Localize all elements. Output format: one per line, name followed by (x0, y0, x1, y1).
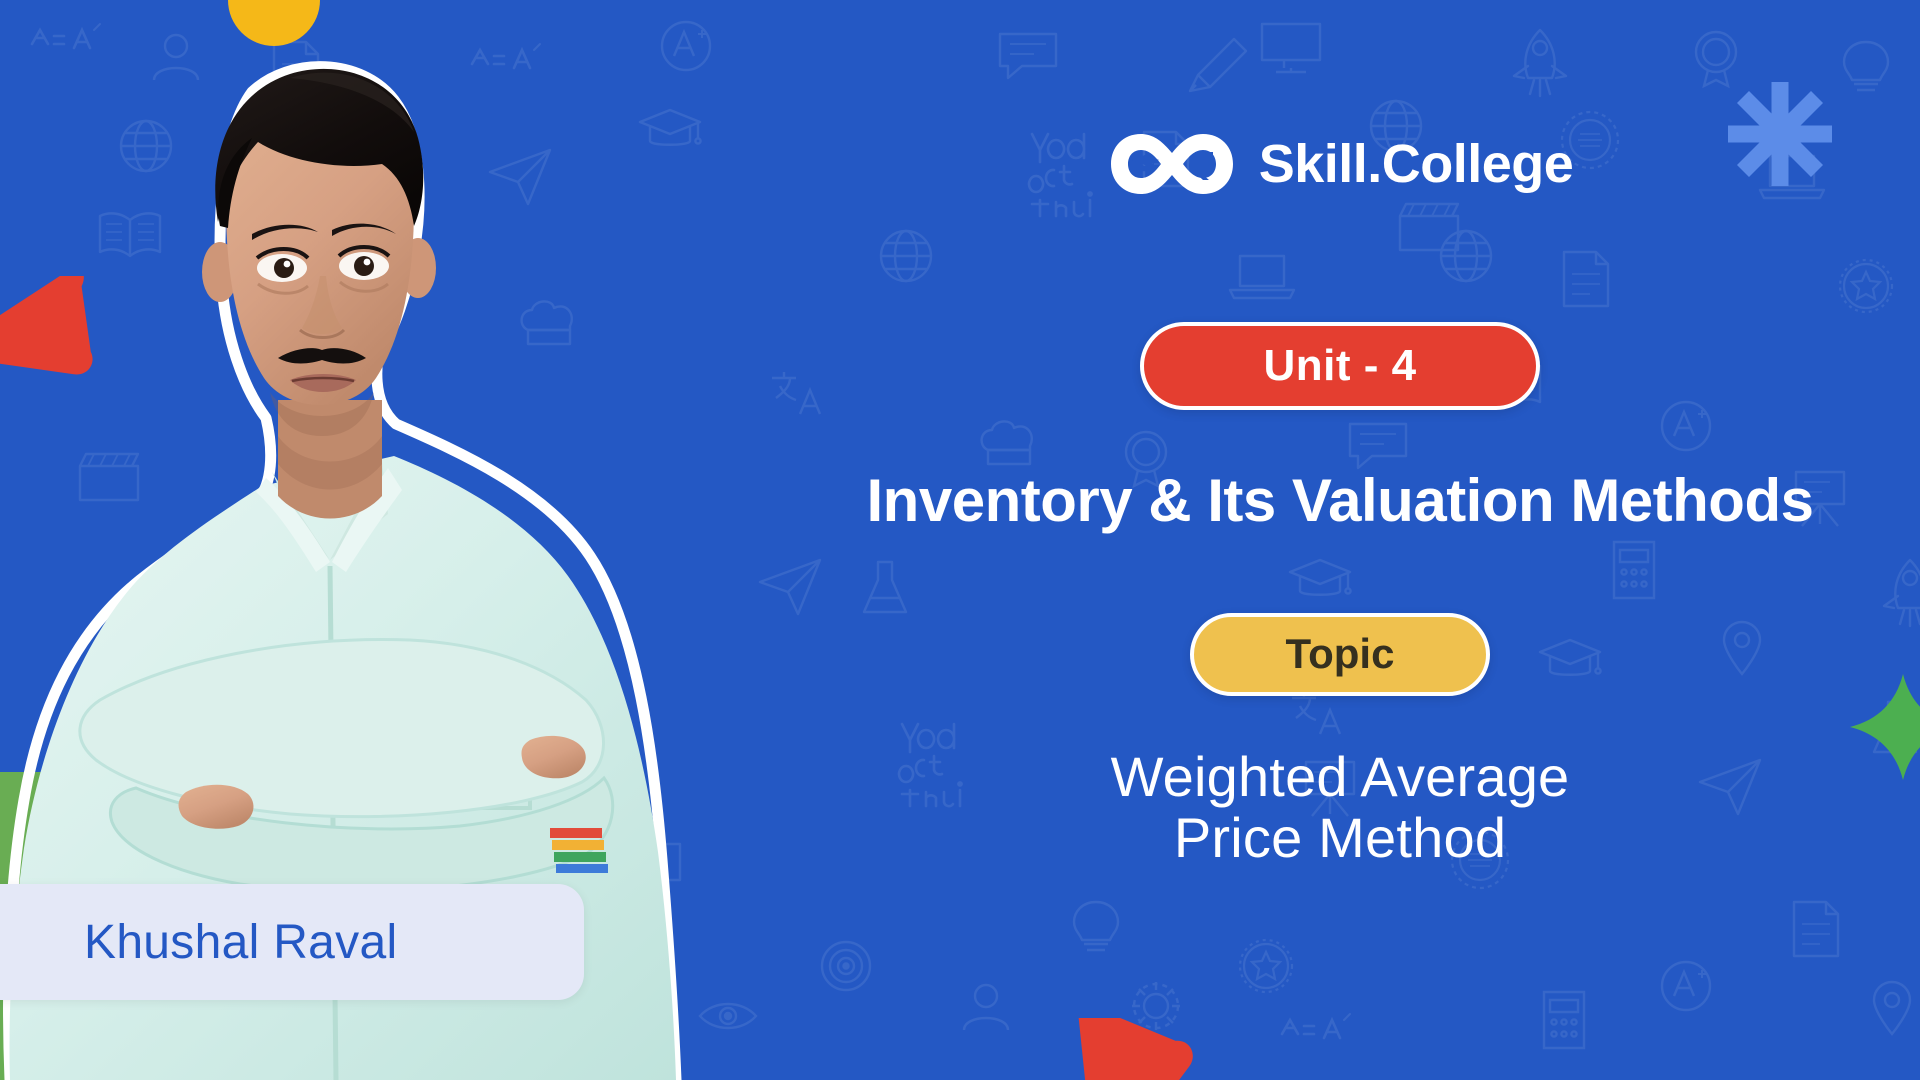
topic-title: Weighted Average Price Method (1111, 746, 1570, 869)
course-info-panel: Skill.College Unit - 4 Inventory & Its V… (760, 0, 1920, 1080)
brand-name: Skill.College (1259, 137, 1574, 191)
topic-title-line-2: Price Method (1111, 807, 1570, 869)
presenter-name: Khushal Raval (84, 915, 397, 970)
unit-badge[interactable]: Unit - 4 (1140, 322, 1540, 410)
thumbnail-canvas: Khushal Raval (0, 0, 1920, 1080)
topic-badge[interactable]: Topic (1190, 613, 1490, 695)
topic-title-line-1: Weighted Average (1111, 746, 1570, 808)
unit-title: Inventory & Its Valuation Methods (867, 466, 1814, 535)
infinity-graduation-rupee-icon (1107, 128, 1237, 200)
presenter-name-plate: Khushal Raval (0, 884, 584, 1000)
brand-logo[interactable]: Skill.College (1107, 128, 1574, 200)
